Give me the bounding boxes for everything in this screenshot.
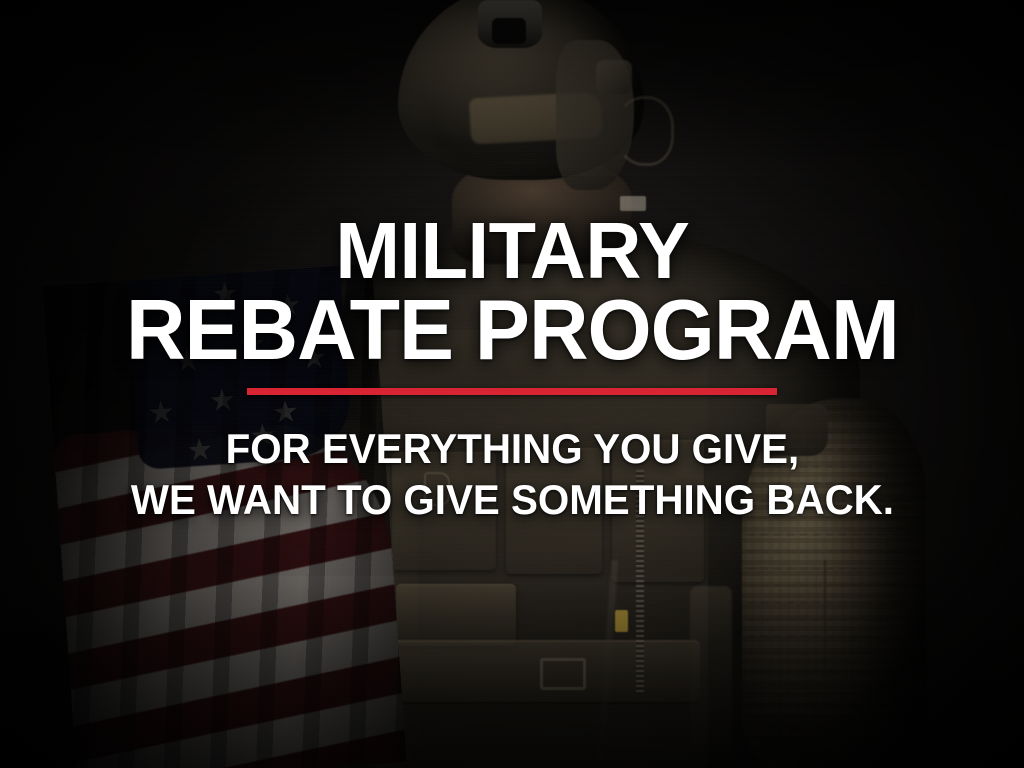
military-rebate-program-poster: ★ ★ ★ ★ ★ ★ ★ ★ ★ ★ ★ MILITARY REBATE PR… xyxy=(0,0,1024,768)
subheadline-line-2: WE WANT TO GIVE SOMETHING BACK. xyxy=(130,474,893,525)
headline-line-1: MILITARY xyxy=(126,212,899,290)
subheadline: FOR EVERYTHING YOU GIVE, WE WANT TO GIVE… xyxy=(130,423,893,525)
red-divider-rule xyxy=(247,388,777,395)
headline: MILITARY REBATE PROGRAM xyxy=(126,0,899,372)
headline-line-2: REBATE PROGRAM xyxy=(126,290,899,372)
poster-content: MILITARY REBATE PROGRAM FOR EVERYTHING Y… xyxy=(0,0,1024,768)
subheadline-line-1: FOR EVERYTHING YOU GIVE, xyxy=(130,423,893,474)
